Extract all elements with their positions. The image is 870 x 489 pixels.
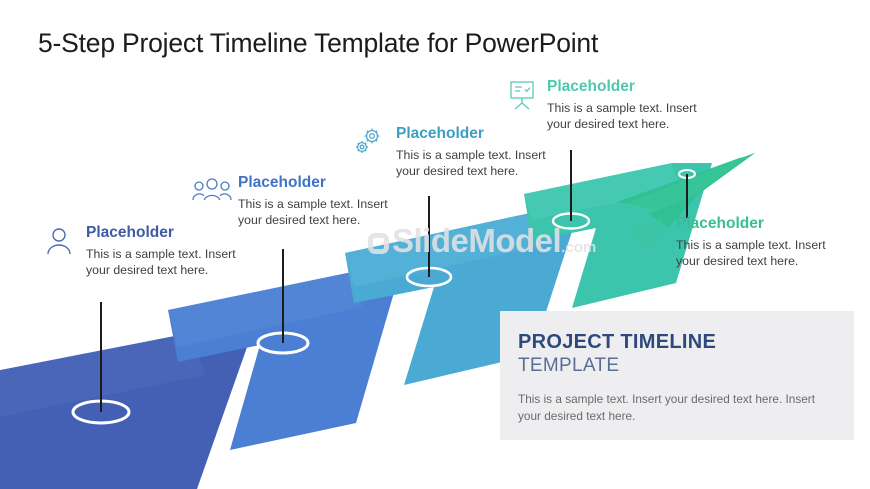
step-5-title: Placeholder (676, 215, 836, 233)
step-5-body: This is a sample text. Insert your desir… (676, 237, 836, 269)
info-panel-title-sub: TEMPLATE (518, 355, 619, 377)
step-3-title: Placeholder (396, 125, 556, 143)
slide-canvas: 5-Step Project Timeline Template for Pow… (0, 0, 870, 489)
step-4-body: This is a sample text. Insert your desir… (547, 100, 707, 132)
presentation-board-icon (505, 78, 539, 112)
slidemodel-watermark: SlideModel.com (368, 222, 596, 260)
step-3-body: This is a sample text. Insert your desir… (396, 147, 556, 179)
info-panel-title-main: PROJECT TIMELINE (518, 331, 716, 354)
target-arrow-icon (632, 215, 666, 249)
step-2-text-block: Placeholder This is a sample text. Inser… (238, 174, 398, 228)
step-2-body: This is a sample text. Insert your desir… (238, 196, 398, 228)
watermark-ring-icon (368, 233, 389, 254)
watermark-suffix: .com (561, 239, 596, 256)
step-1-title: Placeholder (86, 224, 246, 242)
timeline-segment-1[interactable] (0, 333, 252, 489)
watermark-text: SlideModel (392, 222, 561, 259)
step-3-text-block: Placeholder This is a sample text. Inser… (396, 125, 556, 179)
step-4-text-block: Placeholder This is a sample text. Inser… (547, 78, 707, 132)
gears-icon (352, 125, 386, 159)
info-panel-body: This is a sample text. Insert your desir… (518, 391, 838, 424)
step-1-text-block: Placeholder This is a sample text. Inser… (86, 224, 246, 278)
user-icon (42, 224, 76, 258)
step-5-text-block: Placeholder This is a sample text. Inser… (676, 215, 836, 269)
step-2-title: Placeholder (238, 174, 398, 192)
step-1-body: This is a sample text. Insert your desir… (86, 246, 246, 278)
project-timeline-info-panel: PROJECT TIMELINE TEMPLATE This is a samp… (500, 311, 854, 440)
users-group-icon (192, 174, 226, 208)
step-4-title: Placeholder (547, 78, 707, 96)
